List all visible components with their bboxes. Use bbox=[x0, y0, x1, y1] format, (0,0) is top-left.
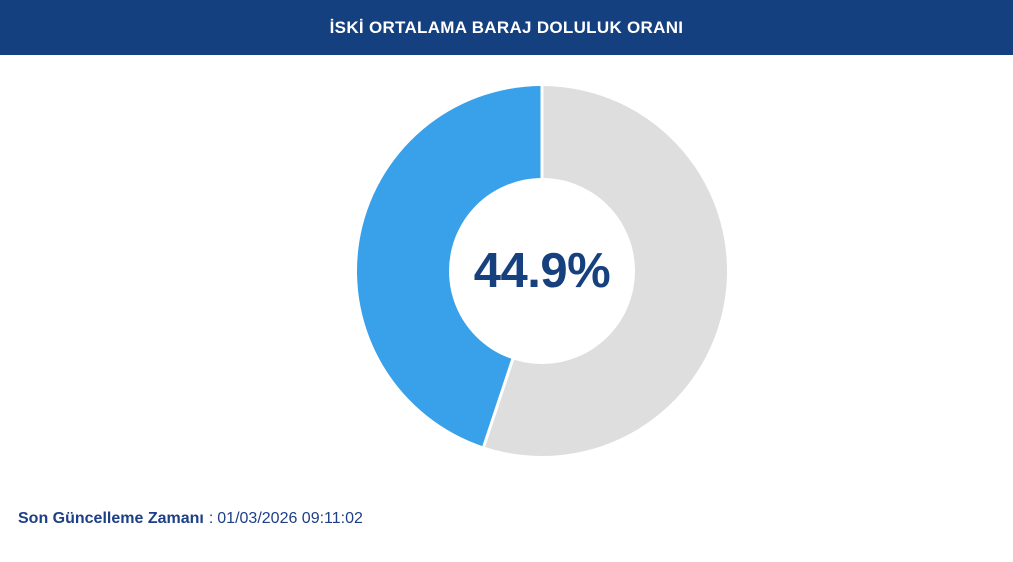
donut-chart-svg bbox=[357, 86, 727, 456]
donut-chart: 44.9% bbox=[357, 86, 727, 456]
chart-area: 44.9% bbox=[0, 55, 1013, 490]
last-update-separator: : bbox=[209, 510, 213, 528]
page-header: İSKİ ORTALAMA BARAJ DOLULUK ORANI bbox=[0, 0, 1013, 55]
donut-hole bbox=[449, 178, 635, 364]
last-update-value: 01/03/2026 09:11:02 bbox=[217, 510, 363, 528]
last-update-label: Son Güncelleme Zamanı bbox=[18, 510, 204, 528]
last-update-row: Son Güncelleme Zamanı : 01/03/2026 09:11… bbox=[18, 510, 363, 528]
page-title: İSKİ ORTALAMA BARAJ DOLULUK ORANI bbox=[330, 18, 684, 38]
